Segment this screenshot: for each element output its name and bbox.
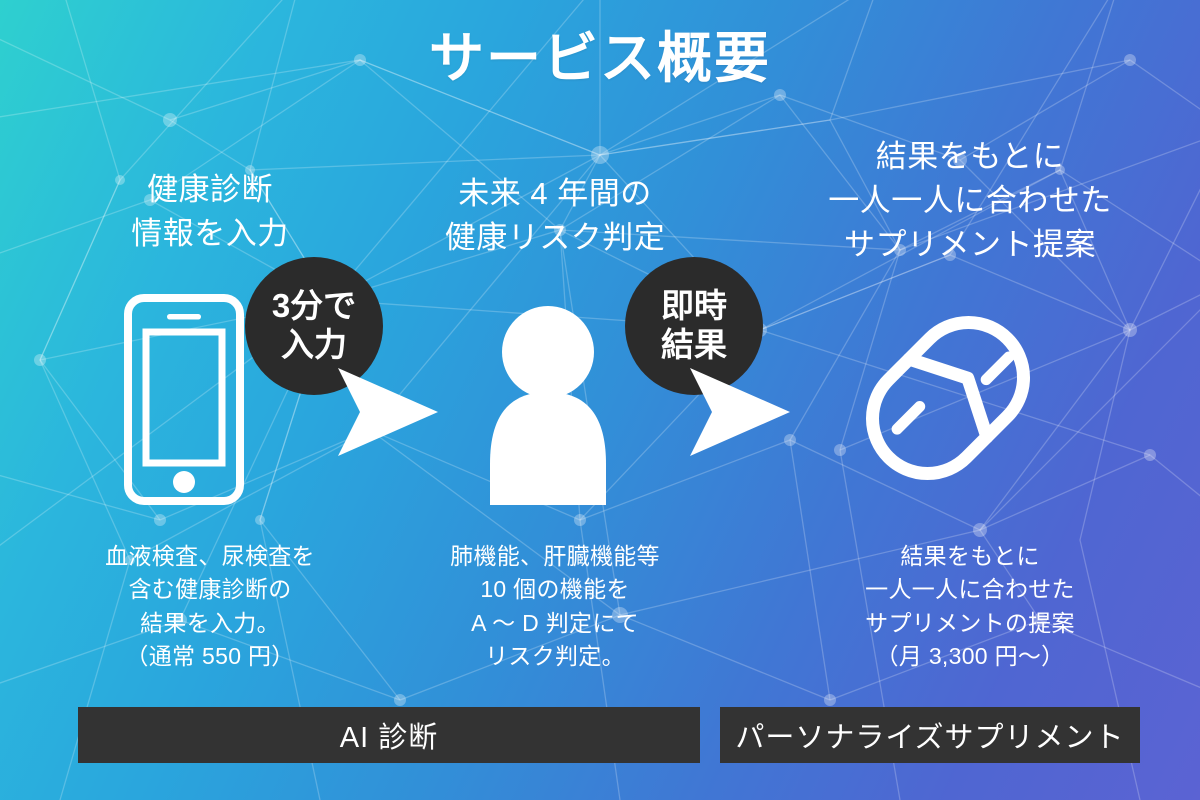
description-line: 一人一人に合わせた xyxy=(760,573,1180,606)
description-line: リスク判定。 xyxy=(390,640,720,673)
arrow-right-icon xyxy=(682,362,794,462)
column-input-description: 血液検査、尿検査を 含む健康診断の 結果を入力。 （通常 550 円） xyxy=(30,540,390,673)
description-line: サプリメントの提案 xyxy=(760,607,1180,640)
badge-line: 即時 xyxy=(661,287,727,326)
description-line: 結果をもとに xyxy=(760,540,1180,573)
column-supplement-heading: 結果をもとに 一人一人に合わせた サプリメント提案 xyxy=(760,135,1180,267)
description-line: 血液検査、尿検査を xyxy=(30,540,390,573)
arrow-right-icon xyxy=(330,362,442,462)
column-diagnosis-description: 肺機能、肝臓機能等 10 個の機能を A 〜 D 判定にて リスク判定。 xyxy=(390,540,720,673)
description-line: 10 個の機能を xyxy=(390,573,720,606)
bar-label: パーソナライズサプリメント xyxy=(735,714,1124,756)
person-icon xyxy=(468,300,628,515)
description-line: （月 3,300 円〜） xyxy=(760,640,1180,673)
description-line: 含む健康診断の xyxy=(30,573,390,606)
description-line: （通常 550 円） xyxy=(30,640,390,673)
bar-personalized-supplement: パーソナライズサプリメント xyxy=(720,707,1140,763)
page-title: サービス概要 xyxy=(0,28,1200,89)
smartphone-icon xyxy=(118,292,250,512)
heading-line: 一人一人に合わせた xyxy=(760,179,1180,223)
description-line: A 〜 D 判定にて xyxy=(390,607,720,640)
column-input-heading: 健康診断 情報を入力 xyxy=(20,168,400,256)
heading-line: 結果をもとに xyxy=(760,135,1180,179)
badge-line: 入力 xyxy=(281,326,347,365)
bar-ai-diagnosis: AI 診断 xyxy=(78,707,700,763)
column-supplement-description: 結果をもとに 一人一人に合わせた サプリメントの提案 （月 3,300 円〜） xyxy=(760,540,1180,673)
infographic-canvas: サービス概要 健康診断 情報を入力 未来 4 年間の 健康リスク判定 結果をもと… xyxy=(0,0,1200,800)
description-line: 肺機能、肝臓機能等 xyxy=(390,540,720,573)
heading-line: サプリメント提案 xyxy=(760,223,1180,267)
heading-line: 健康診断 xyxy=(20,168,400,212)
badge-line: 3分で xyxy=(272,287,356,326)
column-diagnosis-heading: 未来 4 年間の 健康リスク判定 xyxy=(390,172,720,260)
capsule-icon xyxy=(838,288,1058,513)
heading-line: 情報を入力 xyxy=(20,212,400,256)
heading-line: 未来 4 年間の xyxy=(390,172,720,216)
heading-line: 健康リスク判定 xyxy=(390,216,720,260)
description-line: 結果を入力。 xyxy=(30,607,390,640)
badge-line: 結果 xyxy=(661,326,727,365)
bar-label: AI 診断 xyxy=(340,714,438,756)
